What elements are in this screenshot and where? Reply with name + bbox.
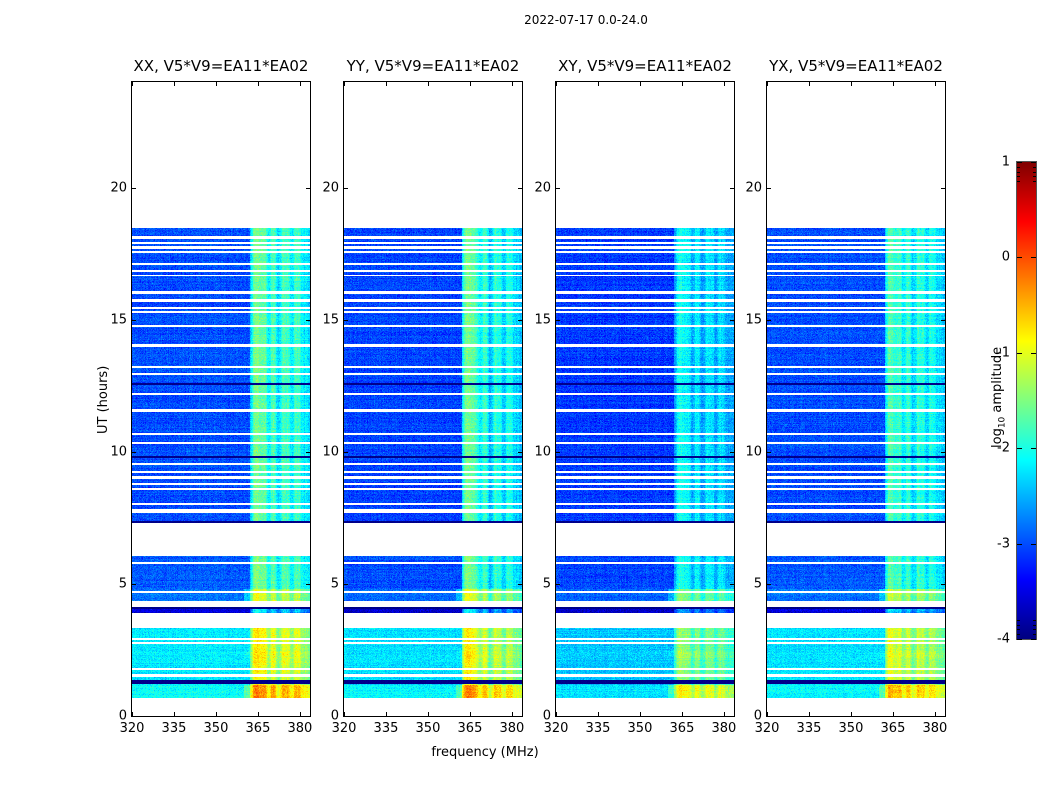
x-tick-mark — [724, 712, 725, 716]
panel-xx[interactable]: XX, V5*V9=EA11*EA02 — [131, 81, 311, 717]
y-tick-mark — [941, 584, 945, 585]
y-tick-mark — [344, 584, 348, 585]
colorbar-minor-tick — [1033, 625, 1036, 626]
x-tick-mark — [344, 82, 345, 86]
x-tick-mark — [386, 712, 387, 716]
y-tick-mark — [344, 188, 348, 189]
colorbar-minor-tick — [1017, 634, 1020, 635]
y-tick-label: 20 — [309, 180, 339, 195]
x-tick-label: 365 — [670, 721, 695, 736]
y-tick-label: 10 — [732, 444, 762, 459]
x-tick-label: 365 — [246, 721, 271, 736]
colorbar-tick-mark — [1017, 162, 1022, 163]
panel-title-xx: XX, V5*V9=EA11*EA02 — [131, 57, 311, 75]
colorbar-tick-label: -3 — [982, 536, 1010, 551]
x-tick-mark — [216, 712, 217, 716]
colorbar-tick-mark — [1031, 162, 1036, 163]
x-tick-mark — [851, 712, 852, 716]
x-tick-label: 365 — [881, 721, 906, 736]
x-tick-mark — [851, 82, 852, 86]
colorbar-tick-label: -2 — [982, 441, 1010, 456]
colorbar-tick-mark — [1017, 257, 1022, 258]
colorbar-minor-tick — [1033, 629, 1036, 630]
x-tick-mark — [682, 712, 683, 716]
y-tick-label: 0 — [309, 709, 339, 724]
y-tick-mark — [132, 188, 136, 189]
colorbar-minor-tick — [1017, 167, 1020, 168]
panel-title-yy: YY, V5*V9=EA11*EA02 — [343, 57, 523, 75]
y-tick-label: 20 — [97, 180, 127, 195]
y-tick-mark — [132, 584, 136, 585]
colorbar-tick-label: 0 — [982, 250, 1010, 265]
x-tick-mark — [767, 82, 768, 86]
colorbar-tick-mark — [1031, 353, 1036, 354]
y-tick-mark — [767, 188, 771, 189]
panel-frame-yx — [766, 81, 946, 717]
colorbar-minor-tick — [1017, 176, 1020, 177]
x-tick-mark — [174, 82, 175, 86]
x-tick-mark — [386, 82, 387, 86]
figure-suptitle: 2022-07-17 0.0-24.0 — [524, 13, 648, 27]
colorbar-tick-mark — [1017, 639, 1022, 640]
colorbar-label: log10 amplitude — [990, 346, 1008, 447]
x-tick-mark — [470, 82, 471, 86]
y-tick-label: 15 — [309, 312, 339, 327]
colorbar-tick-mark — [1017, 353, 1022, 354]
panel-yx[interactable]: YX, V5*V9=EA11*EA02 — [766, 81, 946, 717]
y-tick-mark — [767, 716, 771, 717]
colorbar-tick-mark — [1017, 448, 1022, 449]
x-tick-mark — [512, 82, 513, 86]
y-tick-mark — [132, 452, 136, 453]
y-tick-label: 20 — [521, 180, 551, 195]
panel-frame-yy — [343, 81, 523, 717]
colorbar[interactable] — [1016, 161, 1037, 640]
y-tick-label: 0 — [732, 709, 762, 724]
y-tick-mark — [344, 452, 348, 453]
colorbar-minor-tick — [1033, 181, 1036, 182]
y-tick-label: 5 — [521, 576, 551, 591]
colorbar-minor-tick — [1017, 620, 1020, 621]
x-tick-label: 350 — [628, 721, 653, 736]
y-tick-label: 10 — [97, 444, 127, 459]
x-tick-mark — [512, 712, 513, 716]
y-tick-label: 5 — [309, 576, 339, 591]
x-tick-label: 350 — [204, 721, 229, 736]
y-tick-mark — [344, 716, 348, 717]
y-tick-mark — [132, 320, 136, 321]
x-tick-label: 380 — [923, 721, 948, 736]
colorbar-minor-tick — [1033, 176, 1036, 177]
colorbar-minor-tick — [1033, 167, 1036, 168]
y-tick-label: 0 — [521, 709, 551, 724]
colorbar-minor-tick — [1033, 172, 1036, 173]
y-tick-mark — [556, 452, 560, 453]
x-tick-mark — [556, 82, 557, 86]
colorbar-tick-label: -4 — [982, 632, 1010, 647]
colorbar-minor-tick — [1017, 625, 1020, 626]
colorbar-minor-tick — [1017, 172, 1020, 173]
colorbar-tick-label: 1 — [982, 155, 1010, 170]
y-tick-label: 20 — [732, 180, 762, 195]
y-tick-mark — [767, 320, 771, 321]
panel-frame-xx — [131, 81, 311, 717]
x-tick-mark — [428, 712, 429, 716]
panel-title-xy: XY, V5*V9=EA11*EA02 — [555, 57, 735, 75]
colorbar-tick-mark — [1031, 639, 1036, 640]
y-tick-label: 10 — [521, 444, 551, 459]
x-tick-mark — [893, 712, 894, 716]
x-tick-mark — [598, 712, 599, 716]
colorbar-tick-label: -1 — [982, 345, 1010, 360]
y-tick-label: 5 — [97, 576, 127, 591]
x-tick-mark — [724, 82, 725, 86]
x-tick-mark — [809, 712, 810, 716]
x-tick-mark — [640, 82, 641, 86]
y-tick-mark — [941, 188, 945, 189]
x-tick-label: 350 — [839, 721, 864, 736]
y-tick-label: 0 — [97, 709, 127, 724]
y-tick-label: 10 — [309, 444, 339, 459]
y-tick-mark — [344, 320, 348, 321]
y-tick-mark — [941, 716, 945, 717]
y-tick-mark — [767, 584, 771, 585]
x-tick-mark — [935, 82, 936, 86]
x-tick-mark — [258, 82, 259, 86]
figure-canvas: 2022-07-17 0.0-24.0 XX, V5*V9=EA11*EA02 … — [0, 0, 1050, 800]
y-tick-mark — [941, 452, 945, 453]
y-tick-label: 15 — [521, 312, 551, 327]
y-tick-mark — [556, 716, 560, 717]
y-tick-mark — [132, 716, 136, 717]
y-tick-label: 15 — [97, 312, 127, 327]
x-tick-mark — [640, 712, 641, 716]
x-tick-mark — [258, 712, 259, 716]
panel-yy[interactable]: YY, V5*V9=EA11*EA02 — [343, 81, 523, 717]
colorbar-minor-tick — [1017, 629, 1020, 630]
x-tick-label: 335 — [797, 721, 822, 736]
x-tick-label: 335 — [374, 721, 399, 736]
colorbar-minor-tick — [1033, 634, 1036, 635]
colorbar-frame — [1016, 161, 1037, 640]
y-tick-mark — [556, 320, 560, 321]
panel-xy[interactable]: XY, V5*V9=EA11*EA02 — [555, 81, 735, 717]
x-tick-mark — [598, 82, 599, 86]
y-tick-label: 5 — [732, 576, 762, 591]
x-tick-label: 335 — [586, 721, 611, 736]
x-tick-label: 350 — [416, 721, 441, 736]
panel-frame-xy — [555, 81, 735, 717]
x-axis-label: frequency (MHz) — [431, 745, 538, 760]
x-tick-label: 335 — [162, 721, 187, 736]
x-tick-mark — [893, 82, 894, 86]
colorbar-label-sub: 10 — [998, 416, 1008, 427]
y-tick-mark — [556, 584, 560, 585]
x-tick-label: 365 — [458, 721, 483, 736]
y-tick-label: 15 — [732, 312, 762, 327]
x-tick-mark — [428, 82, 429, 86]
colorbar-minor-tick — [1033, 620, 1036, 621]
y-tick-mark — [767, 452, 771, 453]
x-tick-mark — [935, 712, 936, 716]
colorbar-tick-mark — [1031, 257, 1036, 258]
x-tick-mark — [809, 82, 810, 86]
x-tick-mark — [300, 82, 301, 86]
y-tick-mark — [941, 320, 945, 321]
colorbar-tick-mark — [1017, 544, 1022, 545]
panel-title-yx: YX, V5*V9=EA11*EA02 — [766, 57, 946, 75]
x-tick-mark — [174, 712, 175, 716]
x-tick-mark — [216, 82, 217, 86]
colorbar-tick-mark — [1031, 448, 1036, 449]
x-tick-mark — [470, 712, 471, 716]
y-tick-mark — [556, 188, 560, 189]
x-tick-mark — [300, 712, 301, 716]
colorbar-tick-mark — [1031, 544, 1036, 545]
x-tick-mark — [132, 82, 133, 86]
x-tick-mark — [682, 82, 683, 86]
colorbar-minor-tick — [1017, 181, 1020, 182]
y-axis-label: UT (hours) — [96, 366, 111, 434]
